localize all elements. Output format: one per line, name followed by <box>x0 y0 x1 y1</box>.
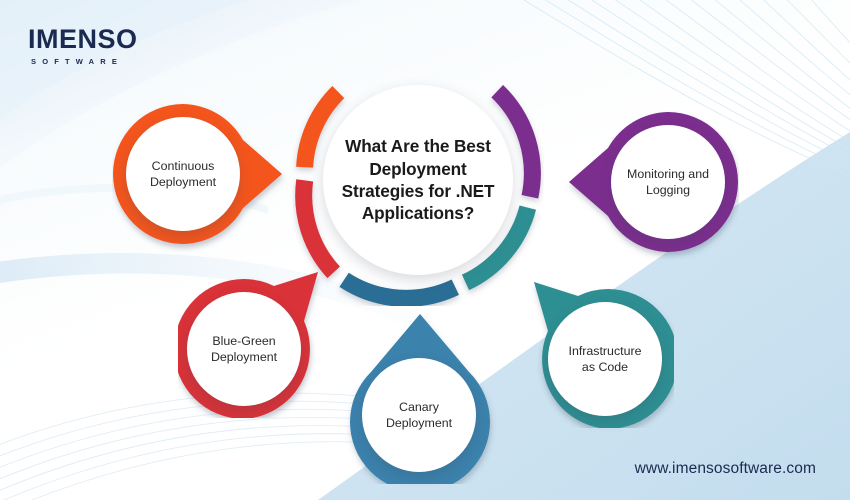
node-monitoring-and-logging[interactable]: Monitoring and Logging <box>553 104 739 260</box>
infrastructure-as-code-disc: Infrastructure as Code <box>548 302 662 416</box>
canary-deployment-label: Canary Deployment <box>367 399 471 432</box>
brand-tagline: SOFTWARE <box>31 58 138 66</box>
node-infrastructure-as-code[interactable]: Infrastructure as Code <box>510 276 674 428</box>
monitoring-and-logging-disc: Monitoring and Logging <box>611 125 725 239</box>
continuous-deployment-disc: Continuous Deployment <box>126 117 240 231</box>
monitoring-and-logging-label: Monitoring and Logging <box>616 166 720 199</box>
continuous-deployment-label: Continuous Deployment <box>131 158 235 191</box>
node-continuous-deployment[interactable]: Continuous Deployment <box>112 96 298 252</box>
infographic-canvas: IMENSO SOFTWARE www.imensosoftware.com <box>0 0 850 500</box>
brand-name: IMENSO <box>28 26 138 53</box>
hub-core-circle: What Are the Best Deployment Strategies … <box>323 85 513 275</box>
infrastructure-as-code-label: Infrastructure as Code <box>553 343 657 376</box>
blue-green-deployment-disc: Blue-Green Deployment <box>187 292 301 406</box>
blue-green-deployment-label: Blue-Green Deployment <box>191 333 297 366</box>
canary-deployment-disc: Canary Deployment <box>362 358 476 472</box>
brand-logo: IMENSO SOFTWARE <box>28 26 138 66</box>
website-url[interactable]: www.imensosoftware.com <box>635 460 816 478</box>
node-blue-green-deployment[interactable]: Blue-Green Deployment <box>178 266 342 418</box>
hub-title: What Are the Best Deployment Strategies … <box>330 135 506 224</box>
ring-segment-canary <box>344 280 455 299</box>
node-canary-deployment[interactable]: Canary Deployment <box>344 312 496 484</box>
